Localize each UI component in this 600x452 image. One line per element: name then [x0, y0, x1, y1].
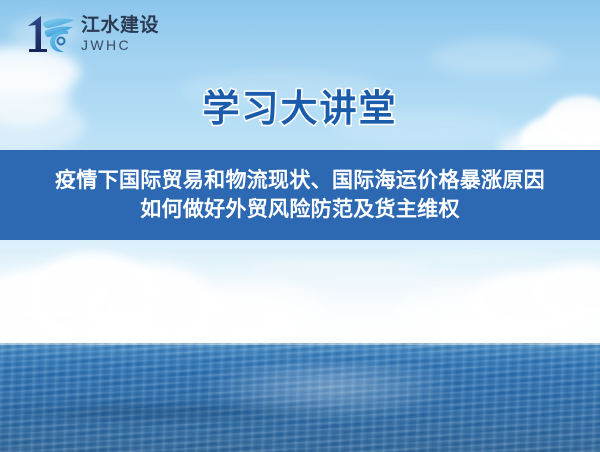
water-shadow-band: [0, 399, 340, 425]
brand-name-cn: 江水建设: [81, 16, 159, 35]
subtitle-banner: 疫情下国际贸易和物流现状、国际海运价格暴涨原因 如何做好外贸风险防范及货主维权: [0, 150, 600, 240]
subtitle-line-1: 疫情下国际贸易和物流现状、国际海运价格暴涨原因: [55, 166, 545, 195]
brand-name-en: JWHC: [81, 38, 159, 52]
page-title: 学习大讲堂: [0, 78, 600, 132]
promo-poster: 江水建设 JWHC 学习大讲堂 疫情下国际贸易和物流现状、国际海运价格暴涨原因 …: [0, 0, 600, 452]
cloud-streak-4: [400, 252, 550, 259]
subtitle-line-2: 如何做好外贸风险防范及货主维权: [140, 195, 460, 224]
cloud-streak-1: [250, 262, 430, 272]
cloud-streak-2: [300, 276, 530, 284]
ocean: [0, 343, 600, 452]
jwhc-wave-logo-icon: [26, 13, 76, 55]
cloud-haze-top-right: [430, 40, 560, 76]
cloud-streak-5: [60, 332, 360, 338]
cumulus-b: [28, 252, 158, 344]
brand-logo: 江水建设 JWHC: [26, 13, 159, 55]
cloud-streak-3: [150, 318, 410, 325]
brand-text: 江水建设 JWHC: [81, 16, 159, 52]
